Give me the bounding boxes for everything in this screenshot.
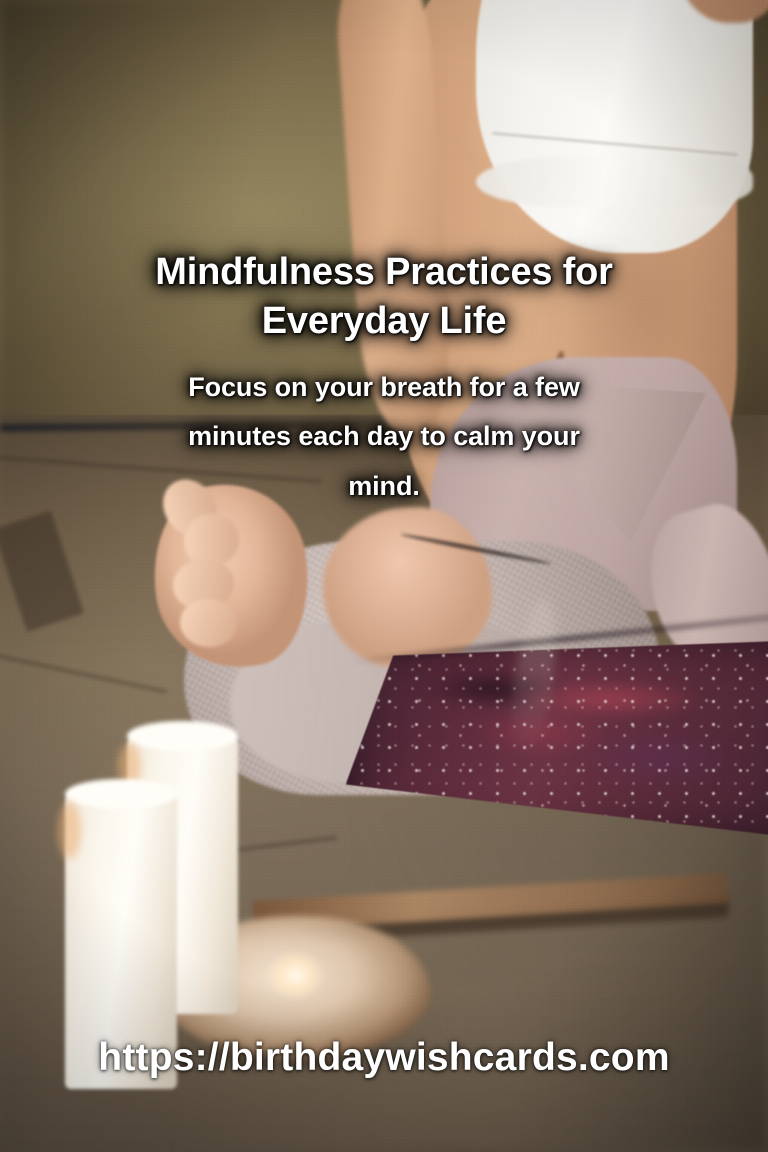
sports-bra-band: [476, 157, 752, 208]
pillar-candle-front: [65, 789, 176, 1089]
resting-hand: [323, 507, 492, 668]
background-photo: [0, 0, 768, 1152]
pillar-candle-front-top: [65, 779, 176, 809]
mindfulness-quote-card: Mindfulness Practices for Everyday Life …: [0, 0, 768, 1152]
pillar-candle-back-top: [127, 721, 238, 751]
